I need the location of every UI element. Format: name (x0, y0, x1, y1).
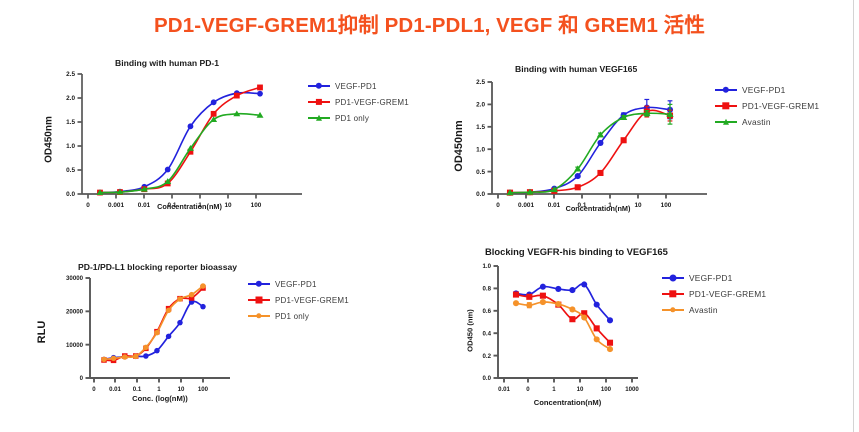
legend-label: PD1-VEGF-GREM1 (742, 101, 819, 111)
legend-item[interactable]: PD1-VEGF-GREM1 (662, 286, 812, 302)
svg-text:0.8: 0.8 (483, 286, 492, 293)
svg-text:0.01: 0.01 (498, 386, 510, 393)
svg-text:2.0: 2.0 (66, 95, 75, 102)
svg-text:0.1: 0.1 (133, 386, 142, 393)
legend-label: VEGF-PD1 (742, 85, 785, 95)
svg-text:1000: 1000 (625, 386, 639, 393)
svg-text:0.5: 0.5 (476, 169, 485, 176)
legend-item[interactable]: VEGF-PD1 (662, 270, 812, 286)
legend-marker-vegf-pd1 (715, 85, 737, 95)
legend-marker-pd1-vegf-grem1 (248, 295, 270, 305)
svg-text:20000: 20000 (66, 309, 84, 316)
legend-item[interactable]: Avastin (715, 114, 850, 130)
x-axis-title: Concentration(nM) (82, 202, 297, 211)
svg-text:2.5: 2.5 (476, 79, 485, 86)
x-axis-title: Conc. (log(nM)) (90, 394, 230, 403)
page-title: PD1-VEGF-GREM1抑制 PD1-PDL1, VEGF 和 GREM1 … (0, 8, 859, 38)
chart-panel-binding-vegf165: Binding with human VEGF165 OD450nm 0.00.… (430, 52, 855, 217)
svg-text:100: 100 (198, 386, 209, 393)
legend-label: PD1 only (335, 114, 369, 123)
legend-item[interactable]: PD1 only (248, 308, 398, 324)
chart-panel-binding-pd1: Binding with human PD-1 OD450nm 0.00.51.… (20, 52, 430, 217)
svg-text:0: 0 (92, 386, 96, 393)
y-axis-title: OD450nm (44, 105, 55, 175)
slide-canvas: PD1-VEGF-GREM1抑制 PD1-PDL1, VEGF 和 GREM1 … (0, 0, 859, 432)
legend-label: VEGF-PD1 (275, 280, 317, 289)
svg-text:30000: 30000 (66, 275, 84, 282)
legend-marker-pd1-only (248, 311, 270, 321)
chart-title: Blocking VEGFR-his binding to VEGF165 (485, 246, 668, 257)
svg-text:10000: 10000 (66, 342, 84, 349)
svg-text:1.0: 1.0 (483, 263, 492, 270)
legend-item[interactable]: VEGF-PD1 (715, 82, 850, 98)
svg-text:0.0: 0.0 (483, 375, 492, 382)
legend-label: Avastin (742, 117, 771, 127)
svg-text:0.6: 0.6 (483, 308, 492, 315)
legend-marker-pd1-vegf-grem1 (308, 97, 330, 107)
x-axis-title: Concentration(nM) (485, 398, 650, 407)
legend-label: PD1-VEGF-GREM1 (275, 296, 349, 305)
svg-text:1.5: 1.5 (66, 119, 75, 126)
svg-text:10: 10 (178, 386, 185, 393)
chart-title: Binding with human VEGF165 (515, 64, 637, 74)
svg-text:1.5: 1.5 (476, 124, 485, 131)
chart-plot-area: 0.00.51.01.52.02.500.0010.010.1110100 (492, 82, 707, 194)
legend-item[interactable]: PD1-VEGF-GREM1 (715, 98, 850, 114)
legend-item[interactable]: PD1 only (308, 110, 433, 126)
svg-text:0.5: 0.5 (66, 167, 75, 174)
chart-title: PD-1/PD-L1 blocking reporter bioassay (78, 262, 237, 272)
legend-label: PD1-VEGF-GREM1 (335, 98, 409, 107)
svg-text:1.0: 1.0 (476, 146, 485, 153)
legend-marker-pd1-vegf-grem1 (662, 289, 684, 299)
chart-title: Binding with human PD-1 (115, 58, 219, 68)
legend-label: Avastin (689, 305, 718, 315)
svg-text:1: 1 (157, 386, 161, 393)
legend-label: PD1 only (275, 312, 309, 321)
legend-label: VEGF-PD1 (335, 82, 377, 91)
chart-plot-area: 0.00.20.40.60.81.00.0101101001000 (498, 266, 638, 378)
legend-marker-avastin (662, 305, 684, 315)
legend-label: PD1-VEGF-GREM1 (689, 289, 766, 299)
svg-text:2.5: 2.5 (66, 71, 75, 78)
chart-legend: VEGF-PD1 PD1-VEGF-GREM1 PD1 only (308, 78, 433, 126)
chart-legend: VEGF-PD1 PD1-VEGF-GREM1 Avastin (662, 270, 812, 318)
svg-text:2.0: 2.0 (476, 102, 485, 109)
chart-panel-pd1-pdl1-blocking: PD-1/PD-L1 blocking reporter bioassay RL… (20, 248, 430, 428)
svg-text:0.01: 0.01 (109, 386, 121, 393)
svg-text:10: 10 (577, 386, 584, 393)
svg-text:1: 1 (552, 386, 556, 393)
chart-panel-blocking-vegfr: Blocking VEGFR-his binding to VEGF165 OD… (430, 238, 855, 428)
y-axis-title: OD450 (nm) (466, 301, 475, 361)
legend-label: VEGF-PD1 (689, 273, 732, 283)
legend-item[interactable]: PD1-VEGF-GREM1 (248, 292, 398, 308)
legend-marker-avastin (715, 117, 737, 127)
legend-marker-pd1-vegf-grem1 (715, 101, 737, 111)
legend-marker-pd1-only (308, 113, 330, 123)
y-axis-title: RLU (36, 302, 48, 362)
svg-text:1.0: 1.0 (66, 143, 75, 150)
legend-item[interactable]: Avastin (662, 302, 812, 318)
legend-item[interactable]: VEGF-PD1 (248, 276, 398, 292)
legend-marker-vegf-pd1 (662, 273, 684, 283)
svg-text:100: 100 (601, 386, 612, 393)
legend-item[interactable]: PD1-VEGF-GREM1 (308, 94, 433, 110)
legend-item[interactable]: VEGF-PD1 (308, 78, 433, 94)
chart-legend: VEGF-PD1 PD1-VEGF-GREM1 PD1 only (248, 276, 398, 324)
svg-text:0: 0 (80, 375, 84, 382)
x-axis-title: Concentration(nM) (492, 204, 704, 213)
svg-text:0.4: 0.4 (483, 330, 492, 337)
y-axis-title: OD450nm (453, 111, 465, 181)
svg-text:0.0: 0.0 (476, 191, 485, 198)
legend-marker-vegf-pd1 (248, 279, 270, 289)
legend-marker-vegf-pd1 (308, 81, 330, 91)
chart-plot-area: 0.00.51.01.52.02.500.0010.010.1110100 (82, 74, 302, 194)
svg-text:0: 0 (526, 386, 530, 393)
svg-text:0.2: 0.2 (483, 353, 492, 360)
chart-legend: VEGF-PD1 PD1-VEGF-GREM1 Avastin (715, 82, 850, 130)
svg-text:0.0: 0.0 (66, 191, 75, 198)
chart-plot-area: 010000200003000000.010.1110100 (90, 278, 230, 378)
